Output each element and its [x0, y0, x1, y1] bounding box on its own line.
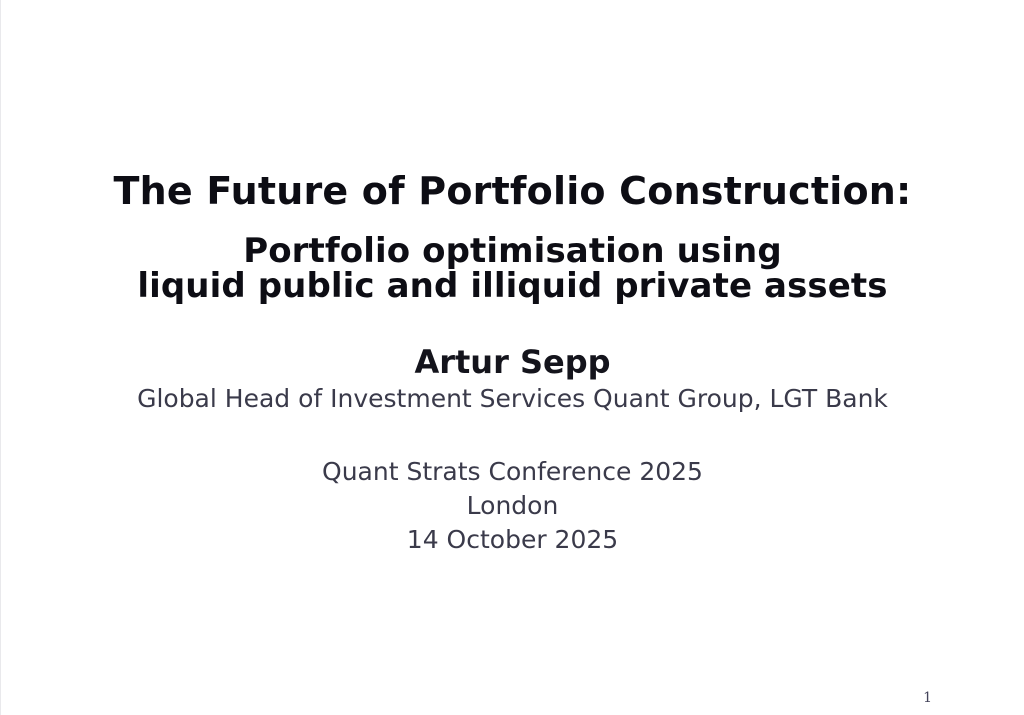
- event-date: 14 October 2025: [1, 523, 1024, 557]
- subtitle-block: Portfolio optimisation using liquid publ…: [1, 234, 1024, 304]
- page-title: The Future of Portfolio Construction:: [1, 168, 1024, 214]
- event-location: London: [1, 489, 1024, 523]
- event-block: Quant Strats Conference 2025 London 14 O…: [1, 455, 1024, 557]
- author-affiliation: Global Head of Investment Services Quant…: [1, 382, 1024, 415]
- subtitle-line-1: Portfolio optimisation using: [1, 234, 1024, 269]
- subtitle-line-2: liquid public and illiquid private asset…: [1, 269, 1024, 304]
- title-slide: The Future of Portfolio Construction: Po…: [0, 0, 1024, 715]
- author-block: Artur Sepp Global Head of Investment Ser…: [1, 343, 1024, 415]
- title-block: The Future of Portfolio Construction:: [1, 168, 1024, 214]
- event-name: Quant Strats Conference 2025: [1, 455, 1024, 489]
- author-name: Artur Sepp: [1, 343, 1024, 382]
- page-number: 1: [923, 691, 932, 705]
